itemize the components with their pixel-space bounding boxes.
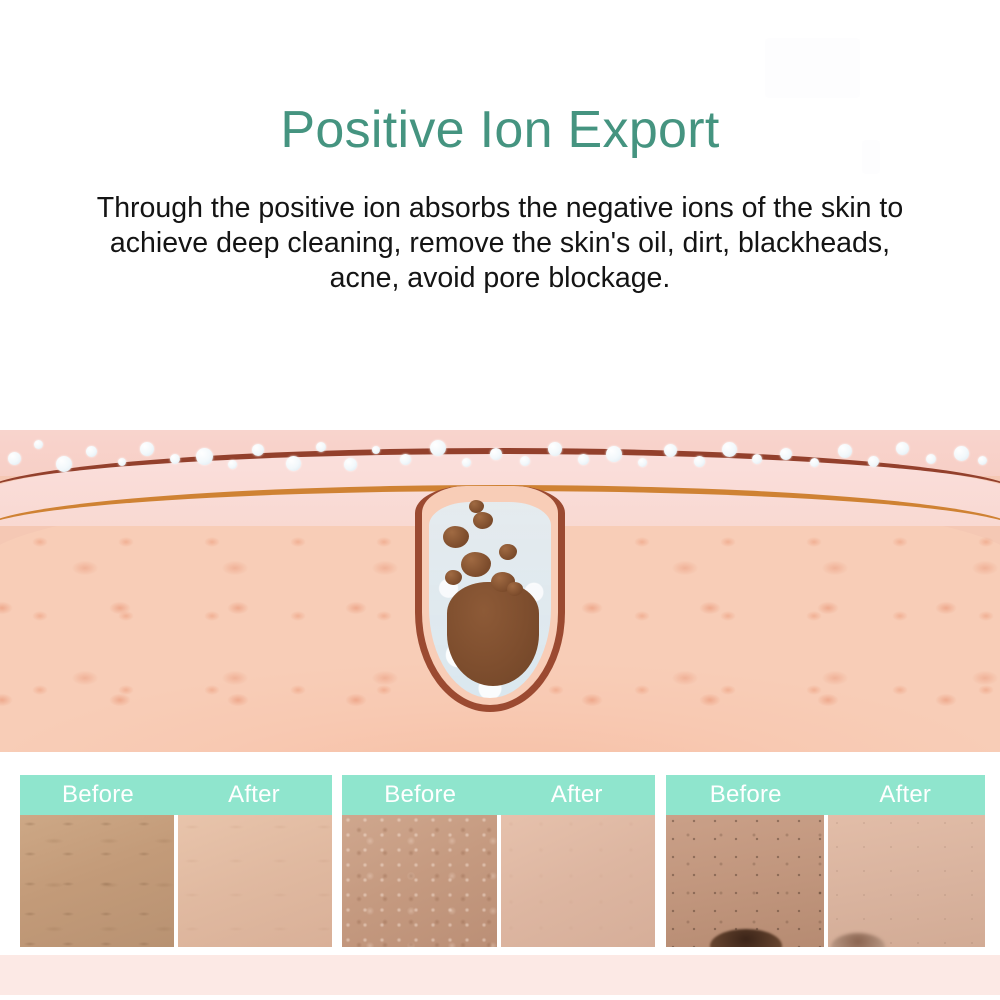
bubble	[196, 448, 213, 465]
bubble	[228, 460, 237, 469]
panel-2-header: Before After	[342, 775, 655, 815]
before-image-2	[342, 815, 497, 947]
bubble	[490, 448, 502, 460]
bubble	[722, 442, 737, 457]
skin-texture	[666, 815, 824, 947]
bubble	[926, 454, 936, 464]
comparison-panel-2[interactable]: Before After	[342, 775, 655, 947]
bubble	[606, 446, 622, 462]
skin-texture	[828, 815, 986, 947]
bubble	[372, 446, 380, 454]
watermark-artifact	[765, 38, 860, 98]
bubble	[838, 444, 852, 458]
skin-texture	[20, 815, 174, 947]
bubble	[400, 454, 411, 465]
bubble	[86, 446, 97, 457]
after-label: After	[826, 775, 986, 815]
before-after-comparison: Before After Before After Before After	[0, 775, 1000, 947]
after-image-3	[828, 815, 986, 947]
bubble	[462, 458, 471, 467]
bubble	[978, 456, 987, 465]
bubble	[430, 440, 446, 456]
panel-1-images	[20, 815, 332, 947]
panel-2-images	[342, 815, 655, 947]
before-label: Before	[342, 775, 499, 815]
bubble	[118, 458, 126, 466]
bubble	[286, 456, 301, 471]
bubble	[954, 446, 969, 461]
bubble	[810, 458, 819, 467]
bubble	[780, 448, 792, 460]
bubble	[56, 456, 72, 472]
bubble	[548, 442, 562, 456]
before-image-1	[20, 815, 174, 947]
footer-band	[0, 955, 1000, 995]
skin-texture	[342, 815, 497, 947]
bubble	[316, 442, 326, 452]
before-image-3	[666, 815, 824, 947]
comparison-panel-1[interactable]: Before After	[20, 775, 332, 947]
panel-3-header: Before After	[666, 775, 985, 815]
skin-texture	[178, 815, 332, 947]
bubble	[8, 452, 21, 465]
bubble	[638, 458, 647, 467]
bubble	[868, 456, 879, 467]
bubble	[752, 454, 762, 464]
bubble	[170, 454, 180, 464]
skin-texture	[501, 815, 656, 947]
page-title: Positive Ion Export	[0, 99, 1000, 161]
bubble	[344, 458, 357, 471]
clogged-pore	[395, 486, 595, 722]
bubble	[664, 444, 677, 457]
bubble	[34, 440, 43, 449]
skin-cross-section-illustration	[0, 430, 1000, 752]
comparison-panel-3[interactable]: Before After	[666, 775, 985, 947]
product-feature-page: Positive Ion Export Through the positive…	[0, 0, 1000, 1000]
after-image-2	[501, 815, 656, 947]
bubble	[140, 442, 154, 456]
before-label: Before	[20, 775, 176, 815]
after-label: After	[499, 775, 656, 815]
sebum-plug	[447, 582, 539, 686]
before-label: Before	[666, 775, 826, 815]
panel-3-images	[666, 815, 985, 947]
after-image-1	[178, 815, 332, 947]
bubble	[694, 456, 705, 467]
bubble	[578, 454, 589, 465]
header-section: Positive Ion Export Through the positive…	[0, 0, 1000, 430]
bubble	[520, 456, 530, 466]
bubble	[896, 442, 909, 455]
cleansing-bubbles	[0, 434, 1000, 490]
after-label: After	[176, 775, 332, 815]
panel-1-header: Before After	[20, 775, 332, 815]
page-description: Through the positive ion absorbs the neg…	[90, 191, 910, 296]
bubble	[252, 444, 264, 456]
